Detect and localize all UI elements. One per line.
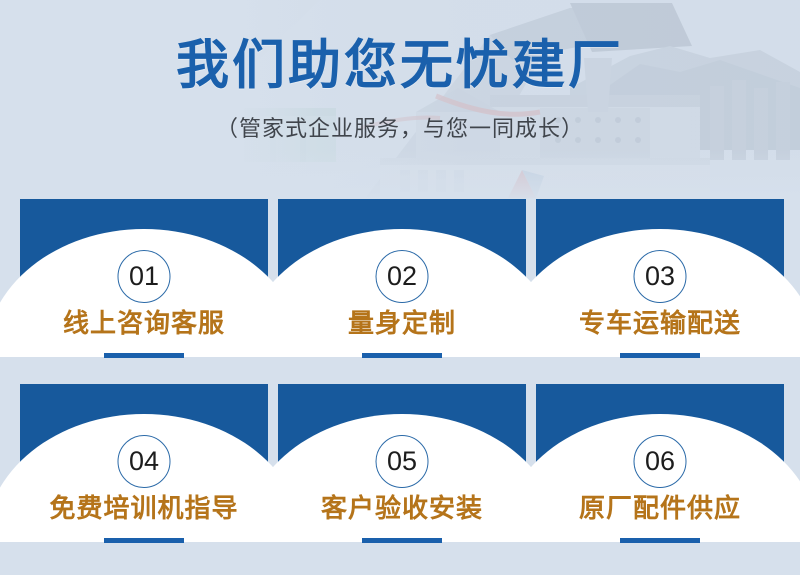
card-number-badge: 02 — [376, 250, 429, 303]
service-card-02[interactable]: 02 量身定制 — [278, 199, 526, 357]
card-underline-bar — [362, 538, 442, 543]
promo-banner: 我们助您无忧建厂 （管家式企业服务，与您一同成长） 01 线上咨询客服 02 量… — [0, 0, 800, 575]
card-label: 原厂配件供应 — [536, 488, 784, 525]
banner-header: 我们助您无忧建厂 （管家式企业服务，与您一同成长） — [0, 0, 800, 143]
card-label: 量身定制 — [278, 303, 526, 340]
card-number-badge: 01 — [118, 250, 171, 303]
card-number-badge: 05 — [376, 435, 429, 488]
page-title: 我们助您无忧建厂 — [0, 36, 800, 95]
card-underline-bar — [620, 538, 700, 543]
card-underline-bar — [104, 353, 184, 358]
card-number-badge: 06 — [634, 435, 687, 488]
card-label: 免费培训机指导 — [20, 488, 268, 525]
card-label: 客户验收安装 — [278, 488, 526, 525]
service-card-05[interactable]: 05 客户验收安装 — [278, 384, 526, 542]
card-label: 线上咨询客服 — [20, 303, 268, 340]
card-underline-bar — [620, 353, 700, 358]
service-card-03[interactable]: 03 专车运输配送 — [536, 199, 784, 357]
card-number-badge: 03 — [634, 250, 687, 303]
card-underline-bar — [104, 538, 184, 543]
service-card-grid: 01 线上咨询客服 02 量身定制 03 专车运输配送 04 免费培训机指导 0… — [20, 199, 784, 542]
page-subtitle: （管家式企业服务，与您一同成长） — [0, 111, 800, 143]
card-underline-bar — [362, 353, 442, 358]
service-card-06[interactable]: 06 原厂配件供应 — [536, 384, 784, 542]
card-label: 专车运输配送 — [536, 303, 784, 340]
card-number-badge: 04 — [118, 435, 171, 488]
service-card-04[interactable]: 04 免费培训机指导 — [20, 384, 268, 542]
service-card-01[interactable]: 01 线上咨询客服 — [20, 199, 268, 357]
